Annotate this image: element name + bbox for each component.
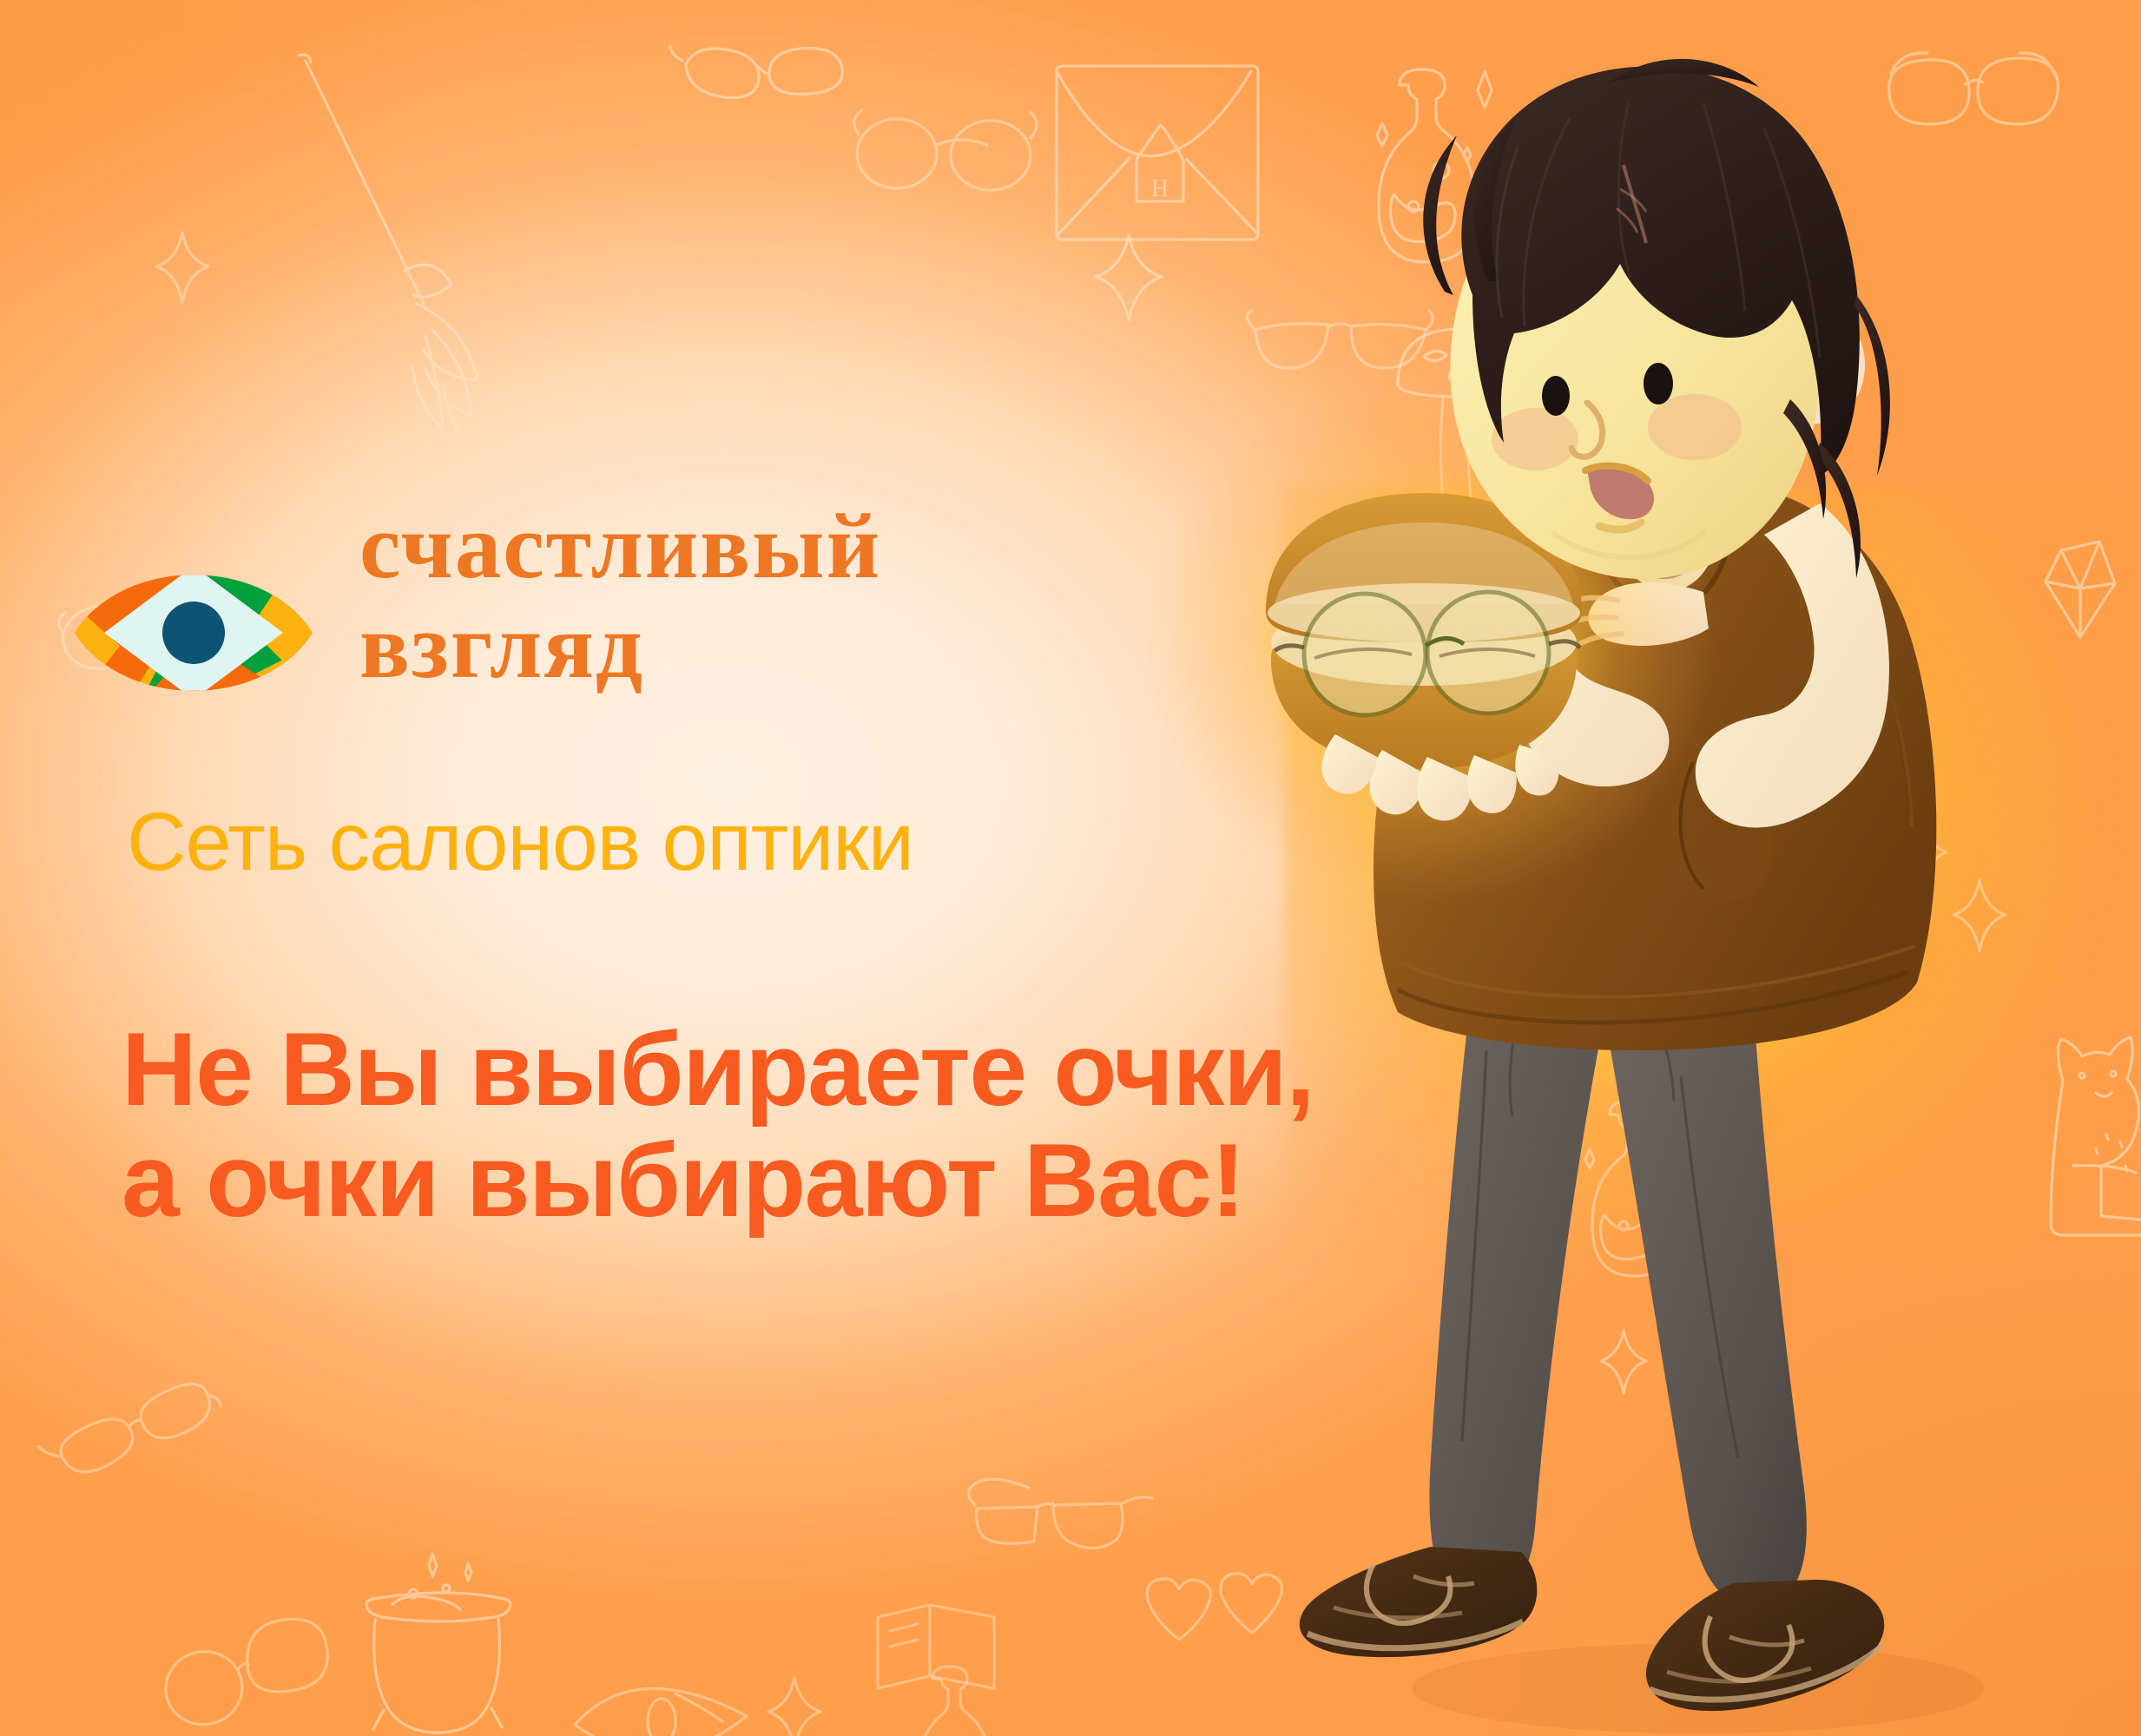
headline-line-2: а очки выбирают Вас! bbox=[122, 1125, 1314, 1236]
headline: Не Вы выбираете очки, а очки выбирают Ва… bbox=[122, 1014, 1314, 1237]
brand-name-line-1: счастливый bbox=[359, 502, 881, 593]
advertisement-poster: H bbox=[0, 0, 2141, 1736]
headline-line-1: Не Вы выбираете очки, bbox=[122, 1014, 1314, 1125]
brand-wordmark: счастливый взгляд bbox=[359, 502, 881, 693]
brand-lockup[interactable]: счастливый взгляд bbox=[68, 510, 881, 741]
brand-name-line-2: взгляд bbox=[359, 602, 881, 693]
eye-logo-icon bbox=[68, 524, 320, 741]
content-column: счастливый взгляд Сеть салонов оптики Не… bbox=[68, 0, 1422, 1736]
brand-tagline: Сеть салонов оптики bbox=[127, 795, 913, 890]
